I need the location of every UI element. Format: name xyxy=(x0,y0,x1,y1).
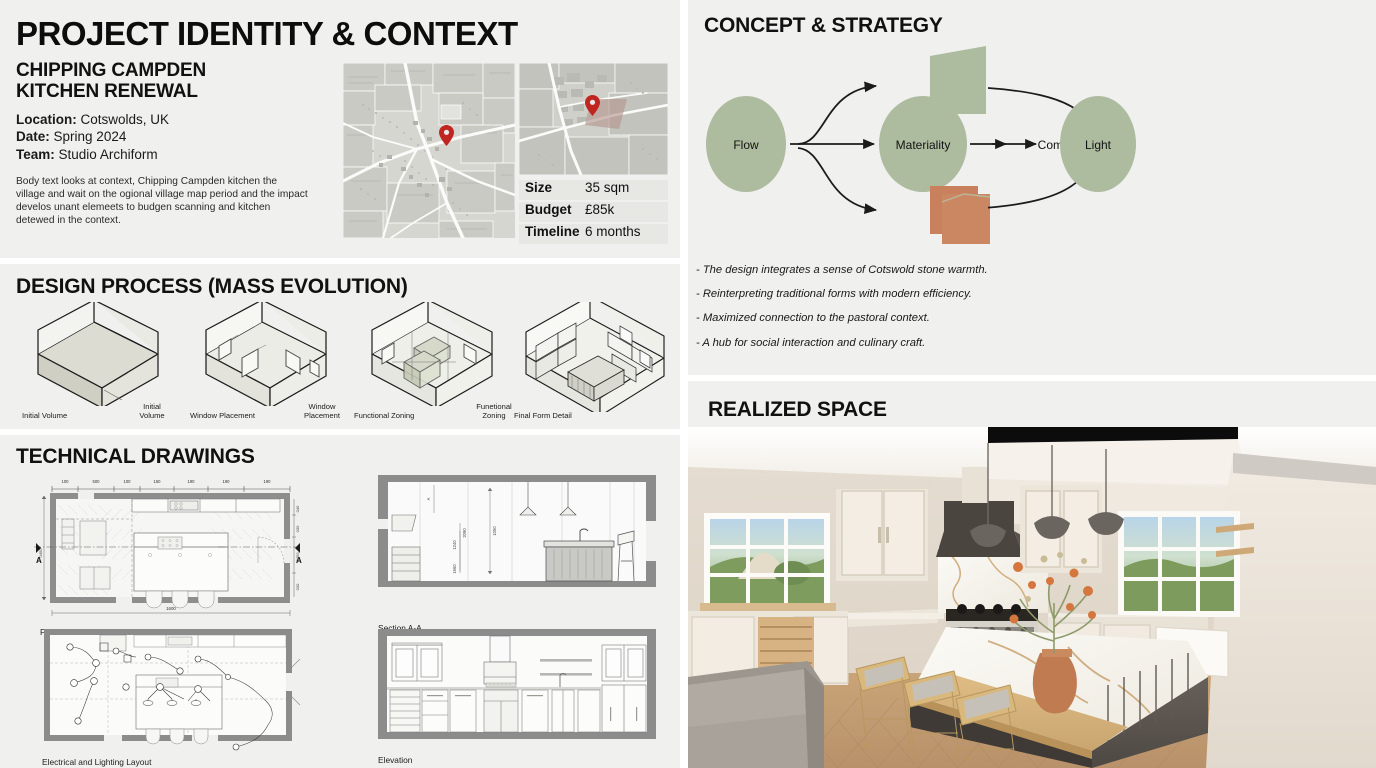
village-context-map xyxy=(343,63,515,238)
meta-key-location: Location: xyxy=(16,112,77,127)
mass-step-2: Window Placement Window Placement xyxy=(186,302,352,422)
process-title: DESIGN PROCESS (MASS EVOLUTION) xyxy=(16,276,408,297)
stat-label-size: Size xyxy=(525,180,585,195)
svg-text:0450: 0450 xyxy=(295,552,300,562)
site-location-pin xyxy=(585,95,600,116)
concept-light-group: Light xyxy=(988,44,1158,249)
node-label-materiality: Materiality xyxy=(896,138,951,152)
meta-value-team: Studio Archiform xyxy=(59,147,158,162)
drawing-section-aa: 1050 2090 1240 1660 A Section A-A xyxy=(372,469,662,609)
node-label-light: Light xyxy=(1085,138,1112,152)
realized-title: REALIZED SPACE xyxy=(708,399,887,420)
project-meta-list: Location: Cotswolds, UK Date: Spring 202… xyxy=(16,111,316,164)
mass-caption-4: Final Form Detail xyxy=(514,411,572,420)
svg-text:030: 030 xyxy=(295,583,300,590)
concept-bullet-4: - A hub for social interaction and culin… xyxy=(696,338,1216,349)
svg-text:190: 190 xyxy=(264,479,272,484)
mass-caption-3: Functional Zoning xyxy=(354,411,414,420)
mass-evolution-row: Initial Volume Initial Volume xyxy=(8,302,672,422)
panel-project-identity: PROJECT IDENTITY & CONTEXT CHIPPING CAMP… xyxy=(0,0,680,258)
concept-bullet-list: - The design integrates a sense of Cotsw… xyxy=(696,265,1216,362)
technical-title: TECHNICAL DRAWINGS xyxy=(16,446,255,467)
project-description: Body text looks at context, Chipping Cam… xyxy=(16,175,308,227)
map-location-pin xyxy=(439,125,454,146)
svg-text:1050: 1050 xyxy=(492,526,497,536)
stat-value-budget: £85k xyxy=(585,202,614,217)
stat-value-size: 35 sqm xyxy=(585,180,629,195)
meta-key-date: Date: xyxy=(16,129,50,144)
panel-technical-drawings: TECHNICAL DRAWINGS 100500100 150190190 1… xyxy=(0,435,680,768)
meta-value-date: Spring 2024 xyxy=(54,129,127,144)
svg-text:190: 190 xyxy=(188,479,196,484)
mass-caption-2: Window Placement xyxy=(190,411,255,420)
presentation-board: PROJECT IDENTITY & CONTEXT CHIPPING CAMP… xyxy=(0,0,1376,768)
mass-step-1: Initial Volume Initial Volume xyxy=(18,302,184,422)
identity-text-block: CHIPPING CAMPDEN KITCHEN RENEWAL Locatio… xyxy=(16,60,316,227)
mass-step-3: Functional Zoning Funetional Zoning xyxy=(352,302,518,422)
drawing-floor-plan: 100500100 150190190 190 xyxy=(22,475,312,623)
svg-text:040: 040 xyxy=(295,505,300,512)
meta-value-location: Cotswolds, UK xyxy=(81,112,170,127)
caption-elevation: Elevation xyxy=(378,755,412,765)
mass-annotation-2: Window Placement xyxy=(292,403,352,420)
panel-concept-strategy: CONCEPT & STRATEGY Flow Materiality Comm… xyxy=(688,0,1376,375)
concept-title: CONCEPT & STRATEGY xyxy=(704,15,943,36)
board-title: PROJECT IDENTITY & CONTEXT xyxy=(16,17,518,50)
svg-text:1600: 1600 xyxy=(166,606,176,611)
project-name-line2: KITCHEN RENEWAL xyxy=(16,81,316,102)
stat-label-budget: Budget xyxy=(525,202,585,217)
node-label-flow: Flow xyxy=(733,138,759,152)
svg-text:500: 500 xyxy=(93,479,101,484)
svg-text:030: 030 xyxy=(295,525,300,532)
svg-text:1240: 1240 xyxy=(452,540,457,550)
stat-row-size: Size 35 sqm xyxy=(519,180,668,200)
stat-value-timeline: 6 months xyxy=(585,224,641,239)
project-name-line1: CHIPPING CAMPDEN xyxy=(16,60,316,81)
mass-step-4: Final Form Detail xyxy=(512,302,678,422)
stat-label-timeline: Timeline xyxy=(525,224,585,239)
mass-caption-1: Initial Volume xyxy=(22,411,67,420)
svg-text:190: 190 xyxy=(223,479,231,484)
meta-row-location: Location: Cotswolds, UK xyxy=(16,111,316,129)
concept-bullet-1: - The design integrates a sense of Cotsw… xyxy=(696,265,1216,276)
stat-row-timeline: Timeline 6 months xyxy=(519,224,668,244)
caption-electrical: Electrical and Lighting Layout xyxy=(42,757,151,767)
kitchen-interior-render xyxy=(688,427,1376,768)
svg-text:A: A xyxy=(426,497,431,500)
svg-text:150: 150 xyxy=(154,479,162,484)
project-name: CHIPPING CAMPDEN KITCHEN RENEWAL xyxy=(16,60,316,103)
svg-text:2090: 2090 xyxy=(462,528,467,538)
green-material-swatch xyxy=(930,46,986,114)
drawing-electrical-layout: Electrical and Lighting Layout xyxy=(38,623,306,753)
concept-bullet-3: - Maximized connection to the pastoral c… xyxy=(696,313,1216,324)
terracotta-material-swatch xyxy=(930,186,990,244)
drawing-elevation: Elevation xyxy=(372,623,662,751)
meta-key-team: Team: xyxy=(16,147,55,162)
svg-text:0450: 0450 xyxy=(38,548,43,558)
concept-bullet-2: - Reinterpreting traditional forms with … xyxy=(696,289,1216,300)
svg-text:1660: 1660 xyxy=(452,564,457,574)
stat-row-budget: Budget £85k xyxy=(519,202,668,222)
mass-annotation-1: Initial Volume xyxy=(122,403,182,420)
meta-row-team: Team: Studio Archiform xyxy=(16,146,316,164)
svg-text:100: 100 xyxy=(62,479,70,484)
svg-text:100: 100 xyxy=(124,479,132,484)
panel-design-process: DESIGN PROCESS (MASS EVOLUTION) Initial … xyxy=(0,264,680,429)
project-stats-table: Size 35 sqm Budget £85k Timeline 6 month… xyxy=(519,180,668,246)
meta-row-date: Date: Spring 2024 xyxy=(16,128,316,146)
site-closeup-map xyxy=(519,63,668,175)
panel-realized-space: REALIZED SPACE xyxy=(688,381,1376,768)
